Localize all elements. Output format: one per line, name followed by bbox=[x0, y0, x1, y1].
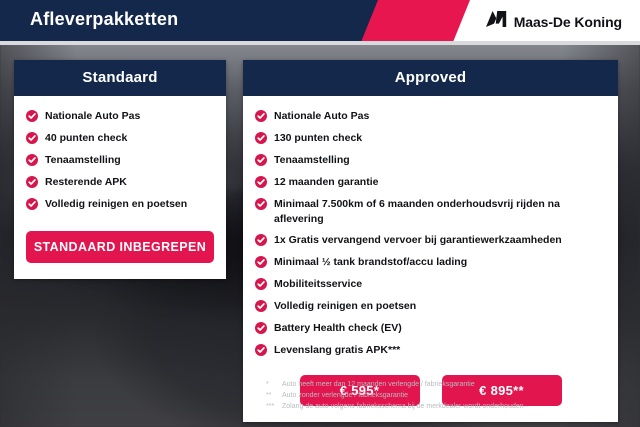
feature-label: Volledig reinigen en poetsen bbox=[274, 299, 416, 314]
feature-label: Resterende APK bbox=[45, 175, 127, 190]
feature-label: Tenaamstelling bbox=[45, 153, 121, 168]
check-circle-icon bbox=[26, 176, 38, 188]
check-circle-icon bbox=[255, 300, 267, 312]
footnote-1: * Auto heeft meer dan 12 maanden verleng… bbox=[266, 380, 616, 391]
check-circle-icon bbox=[255, 110, 267, 122]
footnote-mark: ** bbox=[266, 391, 282, 402]
card-standaard-cta-wrap: STANDAARD INBEGREPEN bbox=[14, 223, 226, 279]
footnote-2: ** Auto zonder verlengde / fabrieksgaran… bbox=[266, 391, 616, 402]
list-item: Tenaamstelling bbox=[255, 153, 608, 168]
list-item: 130 punten check bbox=[255, 131, 608, 146]
feature-label: Nationale Auto Pas bbox=[45, 109, 140, 124]
check-circle-icon bbox=[255, 234, 267, 246]
check-circle-icon bbox=[255, 154, 267, 166]
card-standaard-feature-list: Nationale Auto Pas 40 punten check bbox=[14, 96, 226, 223]
brand-lockup: Maas-De Koning bbox=[485, 10, 622, 33]
feature-label: Minimaal 7.500km of 6 maanden onderhouds… bbox=[274, 197, 608, 227]
card-standaard-heading: Standaard bbox=[14, 60, 226, 96]
list-item: Nationale Auto Pas bbox=[255, 109, 608, 124]
check-circle-icon bbox=[255, 256, 267, 268]
brand-name: Maas-De Koning bbox=[514, 14, 622, 30]
feature-label: Battery Health check (EV) bbox=[274, 321, 402, 336]
check-circle-icon bbox=[255, 176, 267, 188]
check-circle-icon bbox=[26, 198, 38, 210]
feature-label: 1x Gratis vervangend vervoer bij garanti… bbox=[274, 233, 562, 248]
card-approved-feature-list: Nationale Auto Pas 130 punten check bbox=[243, 96, 618, 369]
footnote-text: Auto zonder verlengde / fabrieksgarantie bbox=[282, 391, 408, 402]
header-underline bbox=[0, 41, 640, 45]
feature-label: Mobiliteitsservice bbox=[274, 277, 362, 292]
standaard-inbegrepen-button[interactable]: STANDAARD INBEGREPEN bbox=[26, 231, 214, 263]
list-item: Battery Health check (EV) bbox=[255, 321, 608, 336]
feature-label: Nationale Auto Pas bbox=[274, 109, 369, 124]
check-circle-icon bbox=[255, 198, 267, 210]
check-circle-icon bbox=[255, 322, 267, 334]
list-item: 40 punten check bbox=[26, 131, 216, 146]
list-item: Minimaal ½ tank brandstof/accu lading bbox=[255, 255, 608, 270]
feature-label: Tenaamstelling bbox=[274, 153, 350, 168]
check-circle-icon bbox=[26, 154, 38, 166]
afleverpakketten-page: Afleverpakketten Maas-De Koning Standaar… bbox=[0, 0, 640, 427]
footnote-mark: * bbox=[266, 380, 282, 391]
list-item: 12 maanden garantie bbox=[255, 175, 608, 190]
card-approved: Approved Nationale Auto Pas bbox=[243, 60, 618, 422]
feature-label: Minimaal ½ tank brandstof/accu lading bbox=[274, 255, 467, 270]
footnotes: * Auto heeft meer dan 12 maanden verleng… bbox=[266, 380, 616, 413]
list-item: Levenslang gratis APK*** bbox=[255, 343, 608, 358]
feature-label: 130 punten check bbox=[274, 131, 362, 146]
feature-label: 40 punten check bbox=[45, 131, 127, 146]
footnote-text: Zolang de auto volgens fabrieksschema bi… bbox=[282, 402, 524, 413]
list-item: Mobiliteitsservice bbox=[255, 277, 608, 292]
check-circle-icon bbox=[26, 132, 38, 144]
list-item: Tenaamstelling bbox=[26, 153, 216, 168]
header-pink-diagonal bbox=[361, 0, 470, 41]
list-item: Volledig reinigen en poetsen bbox=[26, 197, 216, 212]
check-circle-icon bbox=[26, 110, 38, 122]
check-circle-icon bbox=[255, 278, 267, 290]
page-header: Afleverpakketten Maas-De Koning bbox=[0, 0, 640, 41]
card-approved-heading: Approved bbox=[243, 60, 618, 96]
list-item: Nationale Auto Pas bbox=[26, 109, 216, 124]
footnote-text: Auto heeft meer dan 12 maanden verlengde… bbox=[282, 380, 475, 391]
footnote-mark: *** bbox=[266, 402, 282, 413]
maas-de-koning-m-logo-icon bbox=[485, 10, 507, 33]
feature-label: 12 maanden garantie bbox=[274, 175, 378, 190]
check-circle-icon bbox=[255, 344, 267, 356]
feature-label: Volledig reinigen en poetsen bbox=[45, 197, 187, 212]
list-item: Volledig reinigen en poetsen bbox=[255, 299, 608, 314]
list-item: Resterende APK bbox=[26, 175, 216, 190]
list-item: Minimaal 7.500km of 6 maanden onderhouds… bbox=[255, 197, 608, 227]
list-item: 1x Gratis vervangend vervoer bij garanti… bbox=[255, 233, 608, 248]
footnote-3: *** Zolang de auto volgens fabrieksschem… bbox=[266, 402, 616, 413]
check-circle-icon bbox=[255, 132, 267, 144]
page-title: Afleverpakketten bbox=[30, 9, 178, 30]
feature-label: Levenslang gratis APK*** bbox=[274, 343, 400, 358]
card-standaard: Standaard Nationale Auto Pas bbox=[14, 60, 226, 279]
